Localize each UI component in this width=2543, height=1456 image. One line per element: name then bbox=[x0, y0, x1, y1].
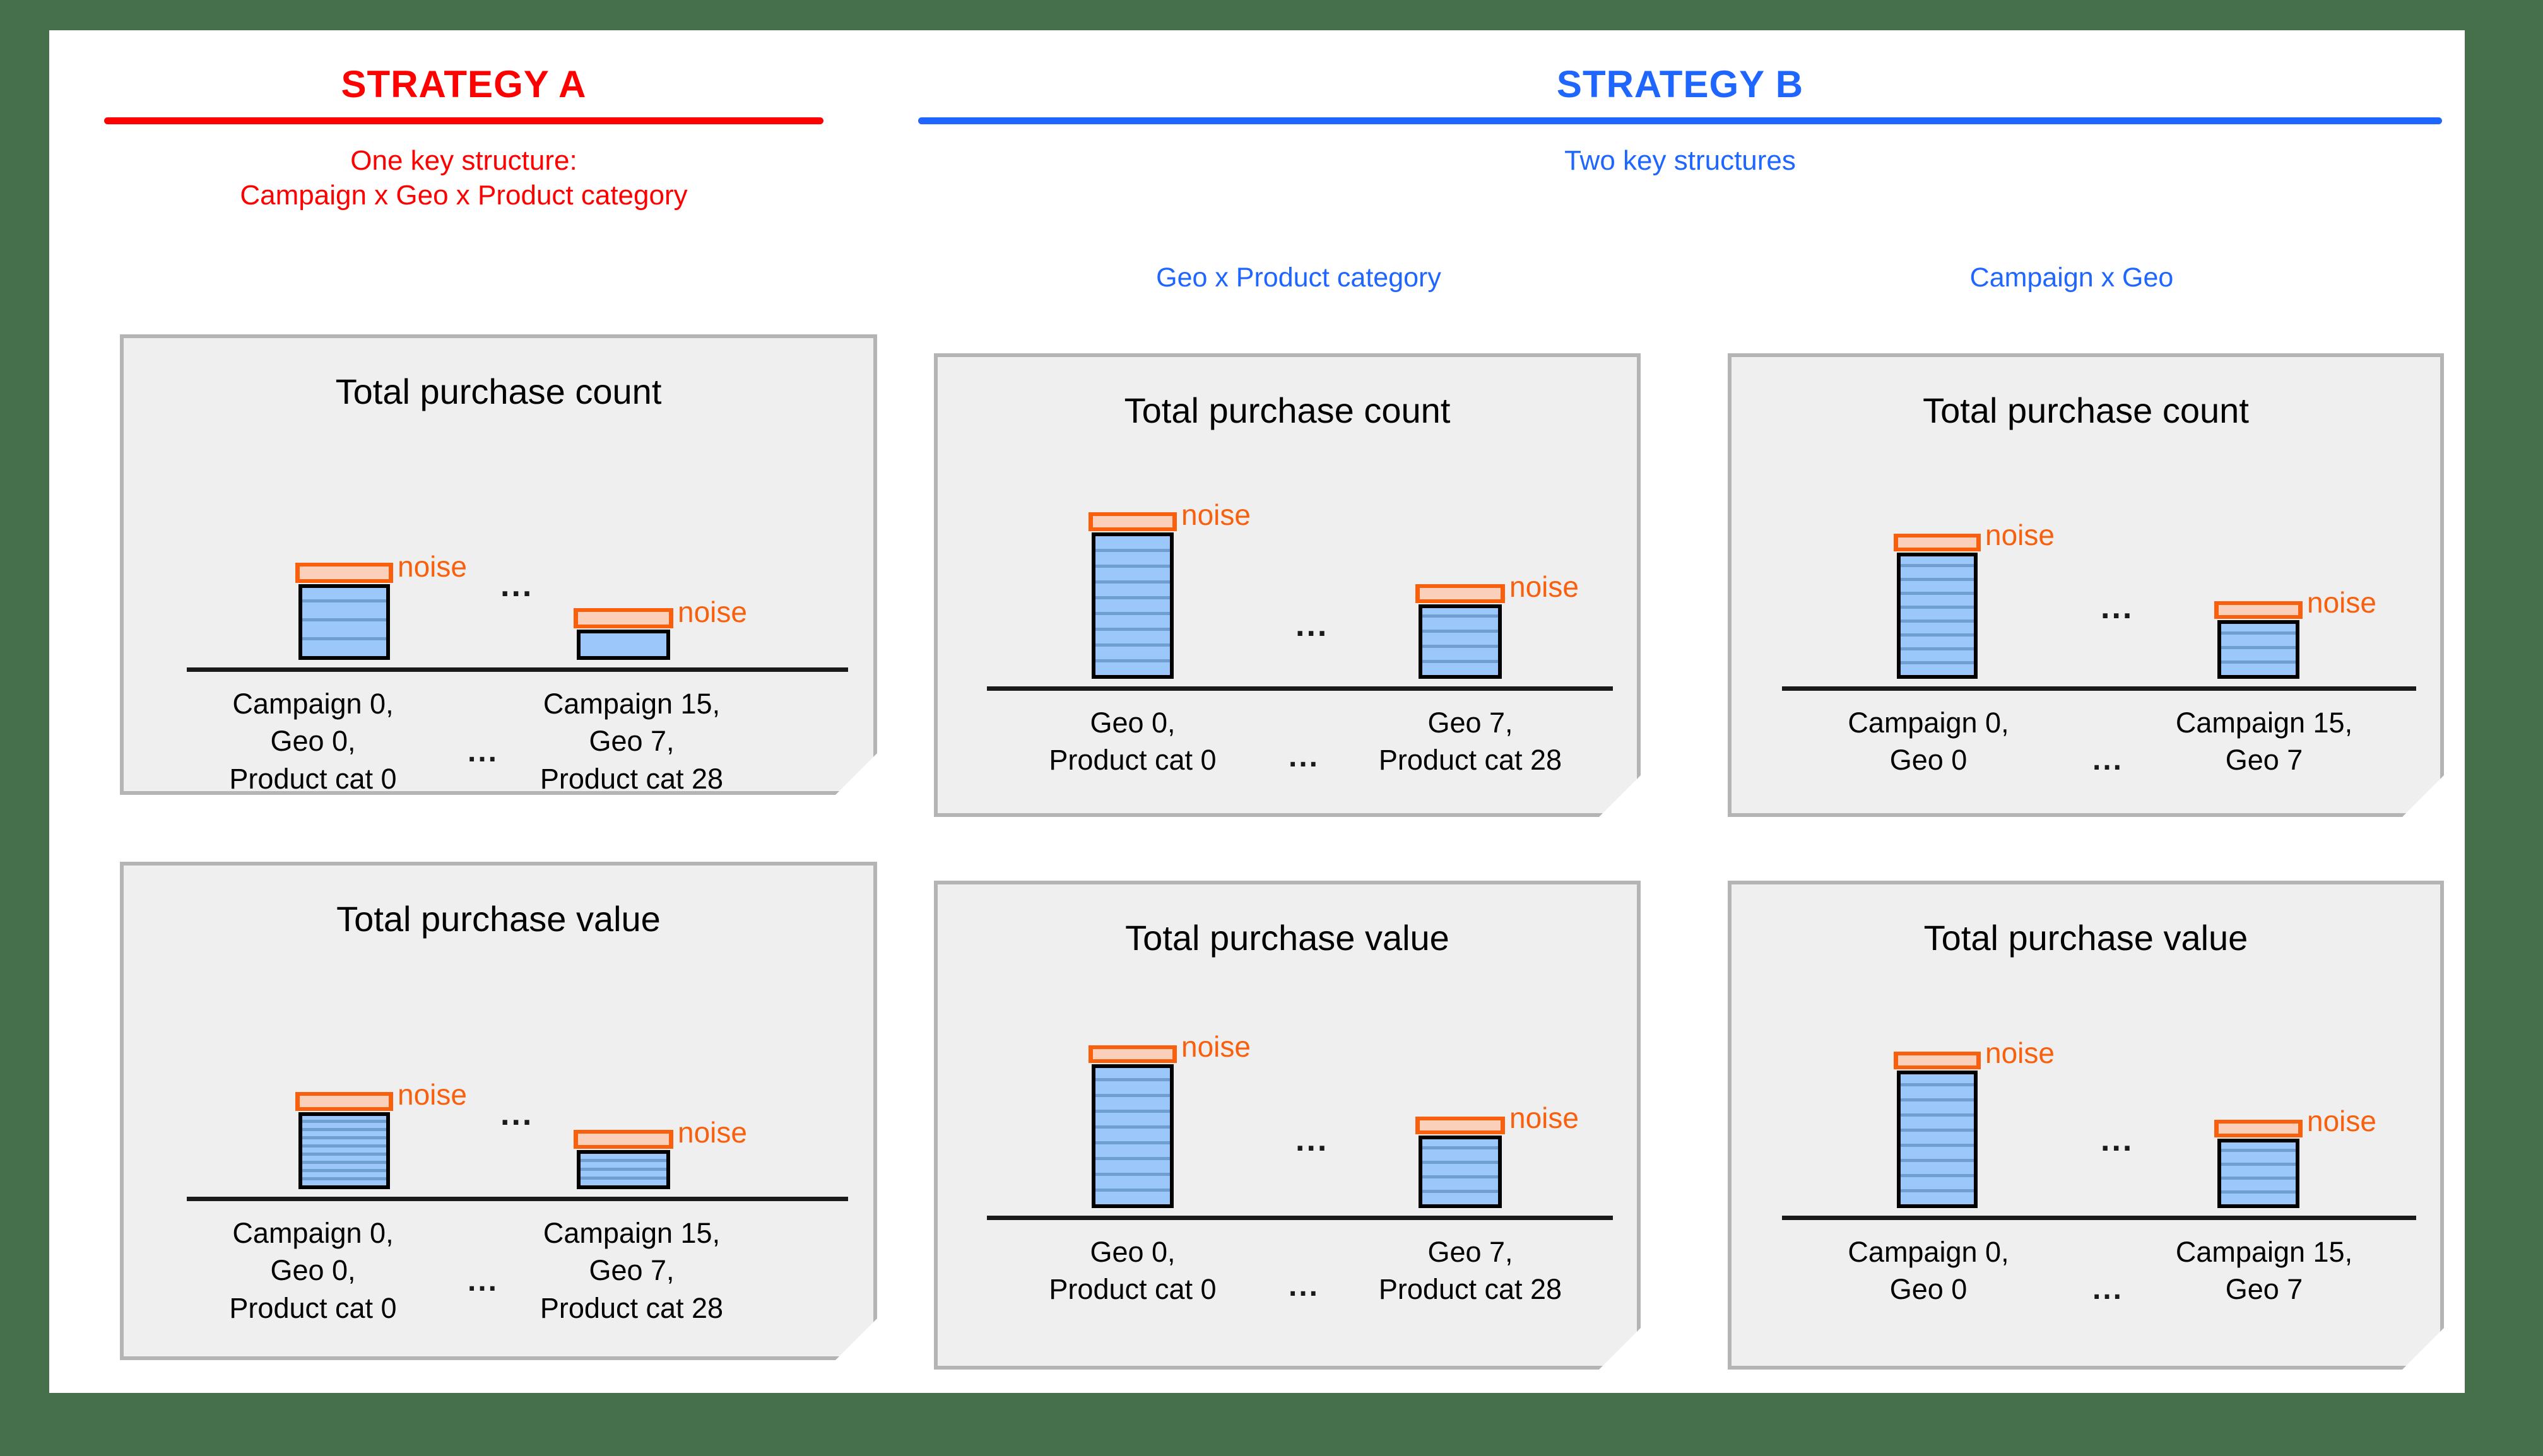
tick-label-right: Campaign 15, Geo 7, Product cat 28 bbox=[493, 685, 770, 797]
strategy-b-title: STRATEGY B bbox=[918, 66, 2442, 103]
bar-segment bbox=[1422, 1161, 1498, 1175]
bar-segment bbox=[302, 1128, 386, 1136]
noise-cap-left bbox=[295, 563, 393, 583]
noise-cap-inner bbox=[1898, 537, 1976, 548]
noise-cap-left bbox=[1089, 512, 1177, 531]
bar-segment bbox=[1901, 619, 1974, 633]
plot-ellipsis: ... bbox=[1295, 609, 1328, 642]
bar-chart-b2-value: noise ... noise Campaign 0, Geo 0 ... Ca… bbox=[1732, 884, 2440, 1366]
card-b1-value[interactable]: Total purchase value noise ... bbox=[934, 881, 1641, 1370]
bar-segment bbox=[1095, 1141, 1170, 1157]
axis-line bbox=[187, 1197, 848, 1201]
bar-chart-a-count: noise ... noise Campaign 0, Geo 0, Produ… bbox=[124, 338, 873, 791]
bar-right[interactable] bbox=[577, 630, 670, 660]
bar-segment bbox=[2221, 660, 2296, 675]
bar-segment bbox=[1901, 1189, 1974, 1204]
bar-chart-b1-count: noise ... noise Geo 0, Product cat 0 ...… bbox=[938, 357, 1637, 813]
noise-cap-right bbox=[574, 608, 673, 628]
strategy-a-header: STRATEGY A One key structure: Campaign x… bbox=[104, 66, 823, 213]
bar-segment bbox=[302, 1169, 386, 1177]
bar-segment bbox=[1901, 1129, 1974, 1144]
bar-segment bbox=[1095, 1110, 1170, 1125]
card-b2-value[interactable]: Total purchase value noise ... bbox=[1728, 881, 2444, 1370]
noise-cap-inner bbox=[2219, 1124, 2298, 1134]
tick-label-right: Campaign 15, Geo 7 bbox=[2113, 704, 2416, 779]
bar-segment bbox=[2221, 631, 2296, 646]
tick-label-right: Geo 7, Product cat 28 bbox=[1319, 704, 1622, 779]
bar-segment bbox=[1901, 647, 1974, 661]
bar-left[interactable] bbox=[1897, 1071, 1978, 1208]
bar-segment bbox=[302, 1161, 386, 1169]
noise-label-left: noise bbox=[398, 1080, 467, 1109]
bar-segment bbox=[1422, 614, 1498, 630]
structure-label-geo-product: Geo x Product category bbox=[933, 262, 1665, 293]
bar-right[interactable] bbox=[1419, 1136, 1502, 1208]
bar-segment bbox=[581, 1168, 666, 1177]
noise-cap-left bbox=[1894, 534, 1981, 551]
bar-segment bbox=[1422, 1175, 1498, 1190]
plot-ellipsis: ... bbox=[2101, 591, 2133, 624]
bar-segment bbox=[1901, 592, 1974, 606]
bar-segment bbox=[2221, 1163, 2296, 1177]
strategy-a-subtitle: One key structure: Campaign x Geo x Prod… bbox=[104, 143, 823, 213]
tick-label-left: Campaign 0, Geo 0 bbox=[1771, 1233, 2086, 1308]
bar-segment bbox=[1095, 1189, 1170, 1204]
bar-segment bbox=[1095, 596, 1170, 612]
bar-segment bbox=[302, 584, 386, 599]
bar-segment bbox=[1901, 1113, 1974, 1129]
noise-cap-inner bbox=[2219, 605, 2298, 615]
plot-ellipsis: ... bbox=[2101, 1124, 2133, 1156]
bar-segment bbox=[1095, 565, 1170, 580]
tick-label-right: Geo 7, Product cat 28 bbox=[1319, 1233, 1622, 1308]
bar-segment bbox=[2221, 1177, 2296, 1190]
bar-segment bbox=[1095, 549, 1170, 565]
bar-segment bbox=[1095, 612, 1170, 628]
bar-segment bbox=[1095, 659, 1170, 675]
bar-segment bbox=[1422, 660, 1498, 675]
noise-cap-inner bbox=[578, 1134, 669, 1145]
strategy-b-subtitle: Two key structures bbox=[918, 143, 2442, 178]
bar-chart-b2-count: noise ... noise Campaign 0, Geo 0 ... Ca… bbox=[1732, 357, 2440, 813]
noise-cap-inner bbox=[1898, 1055, 1976, 1066]
bar-segment bbox=[302, 1120, 386, 1128]
bar-segment bbox=[1422, 604, 1498, 614]
noise-cap-right bbox=[1415, 1117, 1505, 1134]
noise-label-right: noise bbox=[2307, 1107, 2376, 1136]
bar-segment bbox=[1422, 1190, 1498, 1204]
noise-cap-inner bbox=[1093, 1049, 1172, 1059]
noise-label-left: noise bbox=[1181, 500, 1251, 529]
noise-cap-right bbox=[2214, 601, 2303, 619]
bar-segment bbox=[302, 1144, 386, 1153]
bar-right[interactable] bbox=[2217, 620, 2299, 679]
bar-segment bbox=[1901, 1071, 1974, 1083]
tick-label-right: Campaign 15, Geo 7 bbox=[2113, 1233, 2416, 1308]
bar-segment bbox=[1901, 564, 1974, 578]
bar-chart-a-value: noise ... noise Campaign 0, Geo 0, Produ… bbox=[124, 866, 873, 1356]
card-a-count[interactable]: Total purchase count noise ... noise bbox=[120, 334, 877, 795]
noise-cap-left bbox=[1894, 1052, 1981, 1069]
bar-segment bbox=[581, 1150, 666, 1159]
card-a-value[interactable]: Total purchase value noise ... bbox=[120, 862, 877, 1360]
bar-right[interactable] bbox=[577, 1150, 670, 1189]
bar-segment bbox=[1901, 1083, 1974, 1098]
noise-cap-inner bbox=[1093, 516, 1172, 527]
plot-ellipsis: ... bbox=[500, 569, 533, 602]
tick-ellipsis: ... bbox=[1289, 1271, 1319, 1301]
bar-segment bbox=[1422, 630, 1498, 645]
bar-left[interactable] bbox=[298, 584, 390, 660]
tick-label-left: Geo 0, Product cat 0 bbox=[983, 1233, 1282, 1308]
strategy-b-rule bbox=[918, 117, 2442, 124]
bar-segment bbox=[1901, 1174, 1974, 1189]
noise-label-right: noise bbox=[678, 597, 747, 626]
noise-cap-inner bbox=[300, 1096, 389, 1107]
bar-left[interactable] bbox=[1897, 553, 1978, 679]
bar-right[interactable] bbox=[2217, 1139, 2299, 1208]
bar-segment bbox=[1095, 1064, 1170, 1078]
bar-segment bbox=[581, 1159, 666, 1168]
bar-segment bbox=[1422, 1136, 1498, 1146]
bar-segment bbox=[1095, 1173, 1170, 1189]
bar-segment bbox=[1901, 606, 1974, 619]
bar-segment bbox=[1095, 533, 1170, 549]
tick-label-left: Campaign 0, Geo 0, Product cat 0 bbox=[180, 1214, 445, 1327]
bar-chart-b1-value: noise ... noise Geo 0, Product cat 0 ...… bbox=[938, 884, 1637, 1366]
bar-segment bbox=[302, 618, 386, 637]
plot-ellipsis: ... bbox=[500, 1098, 533, 1130]
noise-label-right: noise bbox=[2307, 588, 2376, 617]
noise-label-left: noise bbox=[1985, 1038, 2055, 1067]
bar-segment bbox=[1095, 1125, 1170, 1141]
structure-label-campaign-geo: Campaign x Geo bbox=[1702, 262, 2441, 293]
tick-label-left: Campaign 0, Geo 0 bbox=[1771, 704, 2086, 779]
bar-segment bbox=[1901, 1144, 1974, 1159]
slide-canvas: STRATEGY A One key structure: Campaign x… bbox=[49, 30, 2465, 1393]
noise-cap-inner bbox=[1420, 588, 1501, 599]
bar-segment bbox=[1422, 645, 1498, 660]
noise-cap-inner bbox=[578, 612, 669, 625]
bar-segment bbox=[1901, 633, 1974, 647]
bar-segment bbox=[1901, 578, 1974, 592]
bar-segment bbox=[581, 1177, 666, 1185]
bar-segment bbox=[1095, 1078, 1170, 1094]
bar-segment bbox=[2221, 620, 2296, 631]
bar-segment bbox=[302, 1153, 386, 1161]
tick-ellipsis: ... bbox=[1289, 742, 1319, 772]
noise-label-right: noise bbox=[678, 1118, 747, 1147]
bar-segment bbox=[302, 1112, 386, 1120]
bar-segment bbox=[1095, 580, 1170, 596]
bar-segment bbox=[1095, 1157, 1170, 1173]
bar-segment bbox=[1422, 1146, 1498, 1161]
bar-segment bbox=[1901, 1159, 1974, 1174]
bar-segment bbox=[2221, 646, 2296, 660]
tick-label-left: Geo 0, Product cat 0 bbox=[983, 704, 1282, 779]
bar-segment bbox=[2221, 1190, 2296, 1204]
bar-segment bbox=[302, 599, 386, 618]
axis-line bbox=[987, 686, 1613, 691]
bar-segment bbox=[2221, 1149, 2296, 1163]
bar-left[interactable] bbox=[1092, 532, 1174, 679]
bar-segment bbox=[1095, 628, 1170, 643]
bar-segment bbox=[1901, 661, 1974, 675]
noise-label-left: noise bbox=[1985, 520, 2055, 549]
strategy-a-rule bbox=[104, 117, 823, 124]
axis-line bbox=[1782, 686, 2416, 691]
tick-label-left: Campaign 0, Geo 0, Product cat 0 bbox=[180, 685, 445, 797]
noise-label-left: noise bbox=[398, 552, 467, 581]
noise-cap-right bbox=[574, 1130, 673, 1149]
bar-right[interactable] bbox=[1419, 604, 1502, 679]
noise-cap-right bbox=[2214, 1120, 2303, 1137]
bar-segment bbox=[1095, 1094, 1170, 1110]
tick-label-right: Campaign 15, Geo 7, Product cat 28 bbox=[493, 1214, 770, 1327]
noise-cap-right bbox=[1415, 584, 1505, 603]
bar-segment bbox=[1095, 643, 1170, 659]
strategy-b-header: STRATEGY B Two key structures bbox=[918, 66, 2442, 178]
plot-ellipsis: ... bbox=[1295, 1124, 1328, 1156]
card-b2-count[interactable]: Total purchase count noise ... bbox=[1728, 353, 2444, 817]
strategy-a-title: STRATEGY A bbox=[104, 66, 823, 103]
bar-left[interactable] bbox=[298, 1112, 390, 1189]
axis-line bbox=[987, 1216, 1613, 1220]
noise-cap-inner bbox=[300, 567, 389, 579]
bar-segment bbox=[302, 637, 386, 656]
bar-segment bbox=[2221, 1139, 2296, 1149]
bar-segment bbox=[1901, 553, 1974, 564]
bar-left[interactable] bbox=[1092, 1064, 1174, 1208]
axis-line bbox=[187, 667, 848, 672]
noise-label-left: noise bbox=[1181, 1032, 1251, 1061]
noise-label-right: noise bbox=[1509, 1103, 1579, 1132]
noise-label-right: noise bbox=[1509, 572, 1579, 601]
axis-line bbox=[1782, 1216, 2416, 1220]
noise-cap-inner bbox=[1420, 1120, 1501, 1130]
noise-cap-left bbox=[1089, 1045, 1177, 1063]
bar-segment bbox=[302, 1177, 386, 1185]
bar-segment bbox=[1901, 1098, 1974, 1113]
noise-cap-left bbox=[295, 1092, 393, 1111]
bar-segment bbox=[302, 1136, 386, 1144]
card-b1-count[interactable]: Total purchase count noise ... bbox=[934, 353, 1641, 817]
